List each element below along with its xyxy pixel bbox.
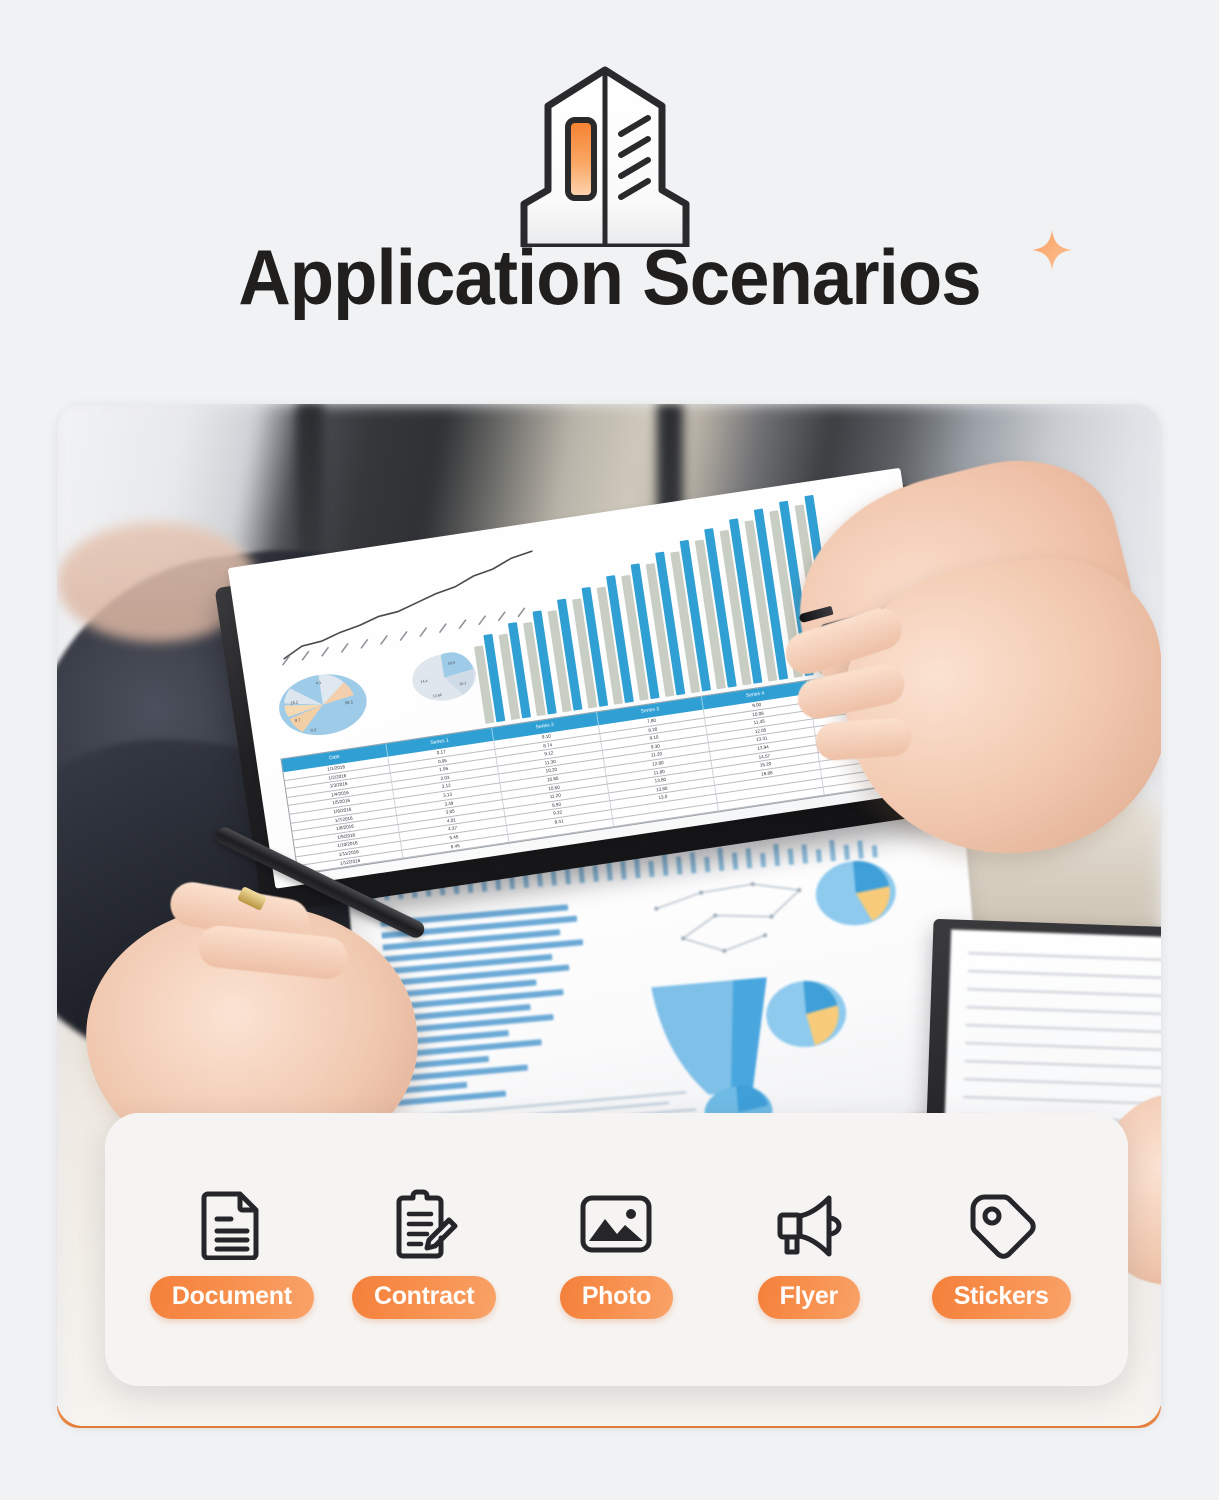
document-icon (200, 1180, 264, 1268)
building-icon (490, 62, 720, 247)
pie-chart-1: 4.1 56.3 16.2 8.7 9.2 (273, 667, 373, 742)
badge-label-document[interactable]: Document (150, 1276, 314, 1320)
megaphone-icon (769, 1180, 849, 1268)
badge-label-contract[interactable]: Contract (352, 1276, 496, 1320)
badge-item-contract[interactable]: Contract (337, 1180, 512, 1320)
clipboard-pencil-icon (389, 1180, 459, 1268)
sparkle-icon (1030, 228, 1074, 272)
image-icon (578, 1180, 654, 1268)
price-tag-icon (965, 1180, 1037, 1268)
badge-label-photo[interactable]: Photo (560, 1276, 673, 1320)
pie-chart-upper (806, 849, 904, 933)
header-section: Application Scenarios (0, 0, 1219, 390)
badge-label-flyer[interactable]: Flyer (758, 1276, 860, 1320)
badge-row: Document Contract (105, 1113, 1128, 1386)
scenario-badge-panel: Document Contract (105, 1113, 1128, 1386)
badge-item-stickers[interactable]: Stickers (914, 1180, 1089, 1320)
badge-item-flyer[interactable]: Flyer (721, 1180, 896, 1320)
scatter-network-chart (648, 873, 814, 967)
badge-item-photo[interactable]: Photo (529, 1180, 704, 1320)
page-title: Application Scenarios (43, 238, 1177, 316)
pie-chart-lower (757, 970, 855, 1056)
badge-label-stickers[interactable]: Stickers (932, 1276, 1071, 1320)
badge-item-document[interactable]: Document (144, 1180, 319, 1320)
pie-chart-2: 53.9 14.4 18.1 13.66 (407, 649, 481, 707)
